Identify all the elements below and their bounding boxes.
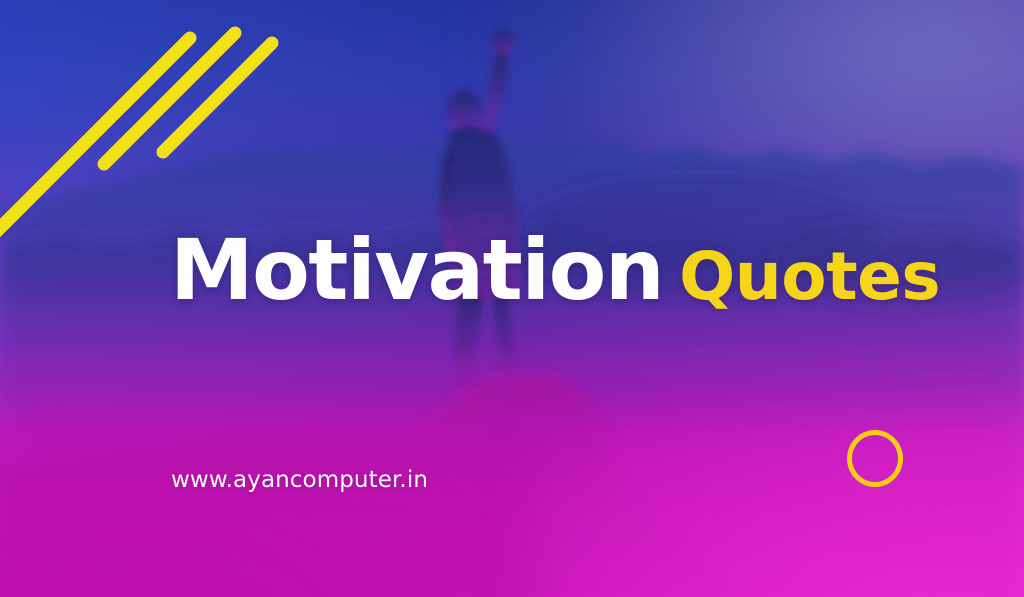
- title-accent: Quotes: [679, 238, 940, 315]
- site-url-label: www.ayancomputer.in: [171, 467, 428, 493]
- background-bottom-right-tint: [532, 418, 1024, 597]
- page-title: MotivationQuotes: [170, 228, 940, 312]
- motivation-quotes-banner: MotivationQuotes www.ayancomputer.in: [0, 0, 1024, 597]
- title-primary: Motivation: [170, 221, 663, 319]
- circle-outline-icon: [847, 430, 903, 487]
- background-bottom-left-tint: [0, 418, 553, 597]
